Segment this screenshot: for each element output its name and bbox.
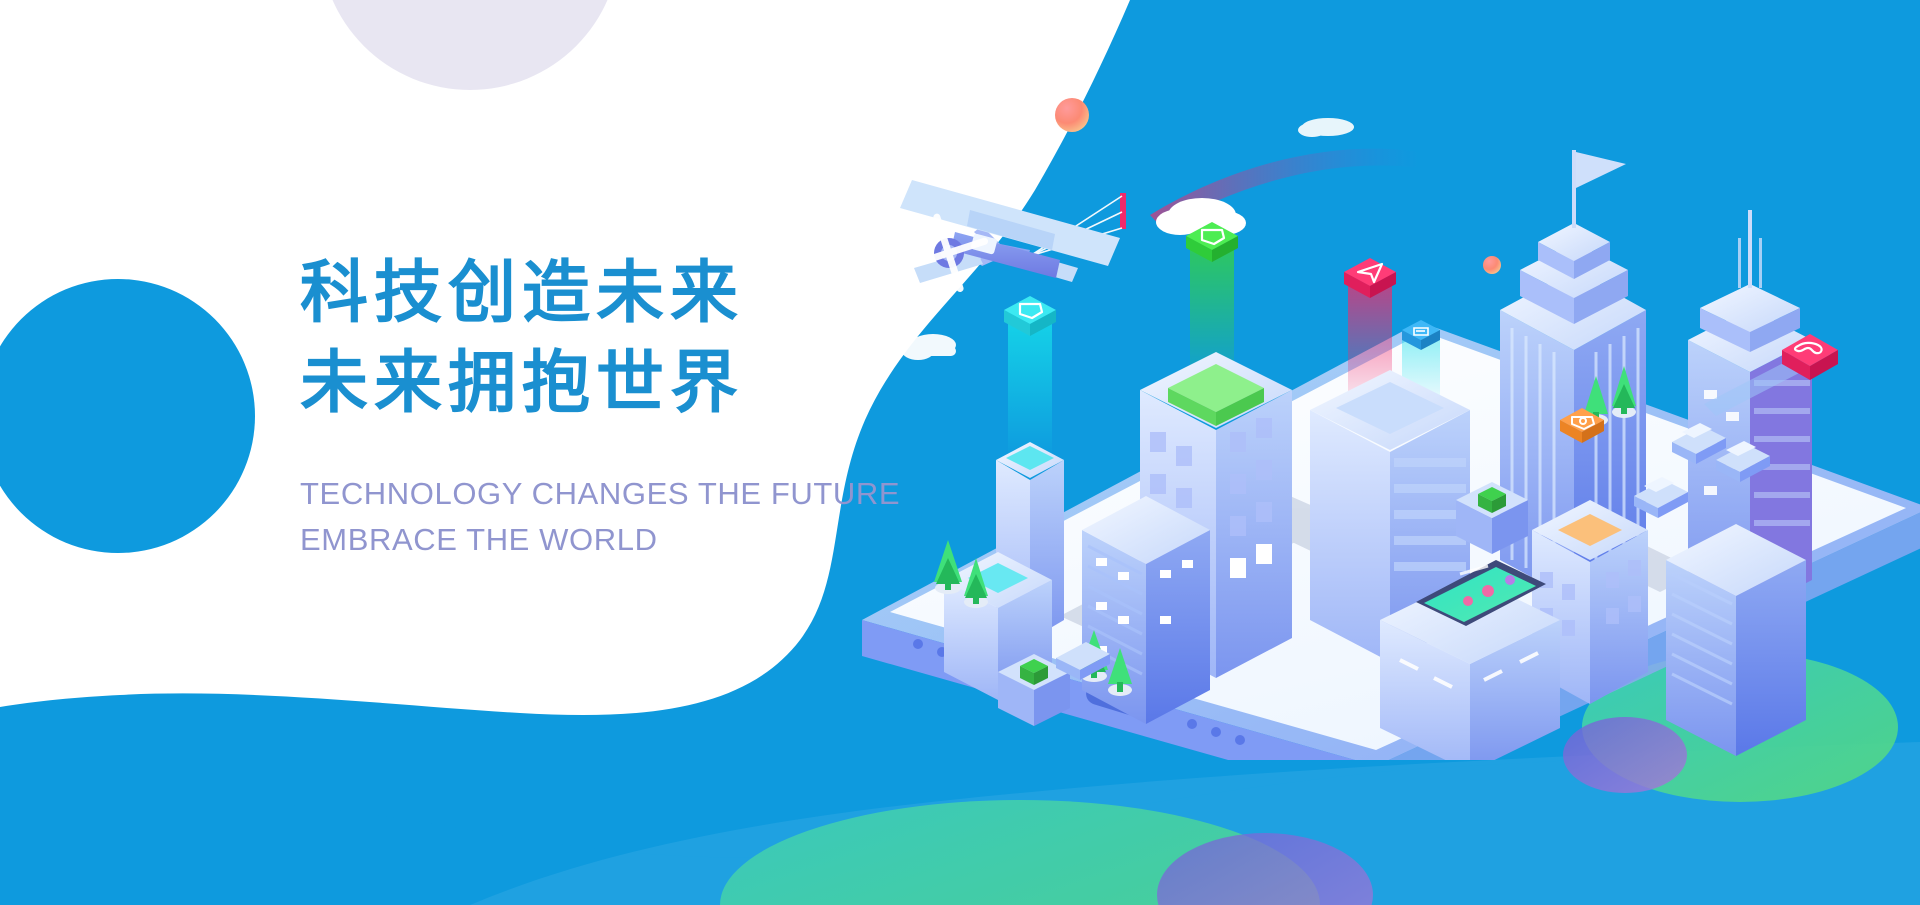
subtitle: TECHNOLOGY CHANGES THE FUTURE EMBRACE TH… <box>300 471 920 563</box>
subtitle-line-1: TECHNOLOGY CHANGES THE FUTURE <box>300 471 920 517</box>
subtitle-line-2: EMBRACE THE WORLD <box>300 517 920 563</box>
isometric-city-illustration <box>820 60 1920 760</box>
headline-line-1: 科技创造未来 <box>300 248 920 338</box>
building-right-ridged <box>1666 524 1806 756</box>
coral-sphere-large <box>1055 98 1089 132</box>
antenna-mast <box>1748 210 1752 288</box>
tree-1 <box>934 540 962 594</box>
building-deep-slab <box>1082 496 1210 724</box>
cloud-wisp <box>1298 118 1354 137</box>
headline: 科技创造未来 未来拥抱世界 <box>300 248 920 429</box>
hero-banner: 科技创造未来 未来拥抱世界 TECHNOLOGY CHANGES THE FUT… <box>0 0 1920 905</box>
tower-flagpole <box>1572 150 1576 228</box>
coral-sphere-small <box>1483 256 1501 274</box>
banner-copy: 科技创造未来 未来拥抱世界 TECHNOLOGY CHANGES THE FUT… <box>300 248 920 563</box>
tower-flag <box>1576 152 1626 188</box>
jet-flag <box>1120 193 1126 229</box>
headline-line-2: 未来拥抱世界 <box>300 338 920 428</box>
propeller-airplane <box>900 180 1120 293</box>
